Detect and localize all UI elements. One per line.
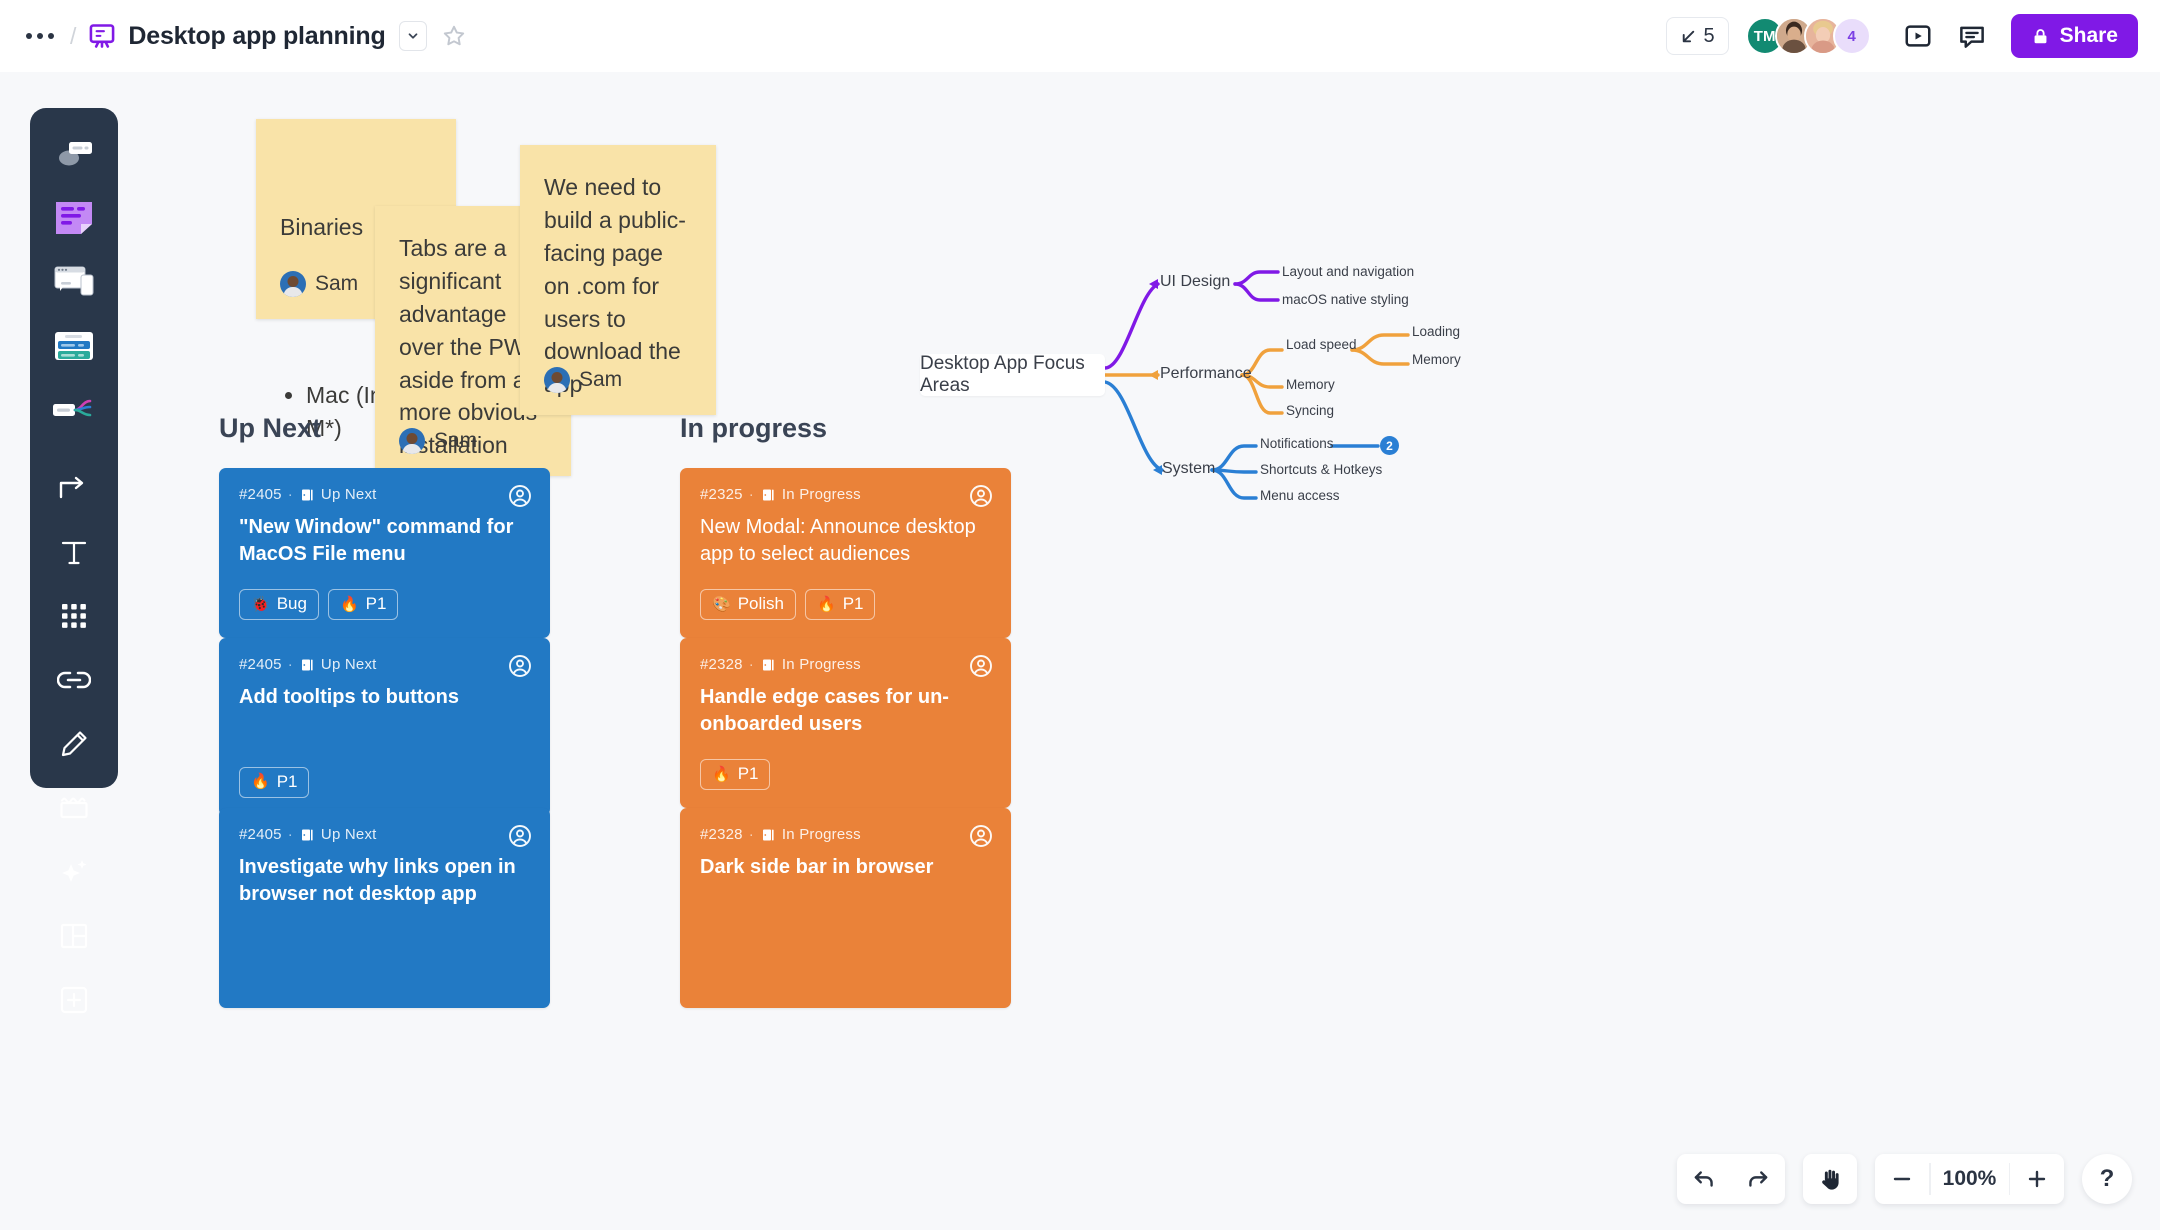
tag-priority[interactable]: 🔥 P1	[328, 589, 398, 620]
zoom-out-button[interactable]	[1875, 1154, 1929, 1204]
tag-bug[interactable]: 🐞 Bug	[239, 589, 319, 620]
tag-label: Polish	[738, 594, 784, 614]
card-status: Up Next	[321, 826, 377, 843]
mindmap-node-label: Performance	[1160, 365, 1252, 382]
sticky-author-name: Sam	[579, 365, 622, 395]
user-circle-icon[interactable]	[508, 824, 532, 848]
hand-pan-icon[interactable]	[1803, 1154, 1857, 1204]
plus-box-icon	[59, 985, 89, 1020]
chevron-down-icon[interactable]	[399, 21, 427, 51]
avatar	[399, 428, 425, 454]
share-button[interactable]: Share	[2011, 14, 2138, 58]
mindmap-leaf-menu-access[interactable]: Menu access	[1260, 488, 1340, 503]
mindmap-leaf-label: Notifications	[1260, 436, 1334, 451]
status-square-icon	[299, 487, 315, 503]
sticky-author-name: Sam	[434, 426, 477, 456]
sticky-author: Sam	[399, 426, 477, 456]
sticky-author: Sam	[280, 269, 358, 299]
mindmap-leaf-macos-styling[interactable]: macOS native styling	[1282, 292, 1409, 307]
more-horizontal-icon[interactable]	[22, 21, 58, 51]
tool-text[interactable]	[42, 522, 106, 586]
flame-icon: 🔥	[340, 597, 359, 612]
breadcrumb-separator: /	[70, 23, 76, 50]
avatar	[544, 367, 570, 393]
star-icon[interactable]	[441, 23, 467, 49]
link-icon	[57, 669, 91, 696]
card-status: Up Next	[321, 656, 377, 673]
tool-connector[interactable]	[42, 458, 106, 522]
tag-label: Bug	[277, 594, 307, 614]
status-square-icon	[760, 827, 776, 843]
card-tags: 🔥 P1	[700, 759, 991, 790]
column-title-up-next: Up Next	[219, 413, 321, 444]
status-square-icon	[299, 827, 315, 843]
mindmap-leaf-startup[interactable]: Memory	[1412, 352, 1461, 367]
card-id: #2405	[239, 826, 282, 843]
card-id: #2405	[239, 486, 282, 503]
mindmap-node-system[interactable]: System	[1162, 460, 1215, 478]
kanban-card-icon	[54, 329, 94, 368]
user-circle-icon[interactable]	[508, 654, 532, 678]
undo-arrow-icon[interactable]	[1677, 1154, 1731, 1204]
card-id: #2328	[700, 656, 743, 673]
card-status: In Progress	[782, 826, 861, 843]
text-t-icon	[59, 537, 89, 572]
card-meta: #2405 · Up Next	[239, 826, 530, 843]
left-toolbar	[30, 108, 118, 788]
tool-templates[interactable]	[42, 252, 106, 316]
card-tags: 🎨 Polish 🔥 P1	[700, 589, 991, 620]
tag-label: P1	[366, 594, 387, 614]
tag-priority[interactable]: 🔥 P1	[805, 589, 875, 620]
card-id: #2328	[700, 826, 743, 843]
tool-eraser[interactable]	[42, 778, 106, 842]
mindmap-node-performance[interactable]: Performance	[1160, 365, 1252, 383]
comment-icon[interactable]	[1951, 15, 1993, 57]
cursor-count-badge[interactable]: 5	[1666, 17, 1729, 55]
tool-kanban[interactable]	[42, 316, 106, 380]
card-title: Investigate why links open in browser no…	[239, 854, 530, 907]
user-circle-icon[interactable]	[508, 484, 532, 508]
tag-polish[interactable]: 🎨 Polish	[700, 589, 796, 620]
mindmap-leaf-label: Load speed	[1286, 337, 1357, 352]
mindmap-icon	[52, 395, 96, 430]
board-canvas[interactable]: Binaries Mac (Intel, M*) Windows Linux? …	[0, 72, 2160, 1230]
sticky-note[interactable]: We need to build a public-facing page on…	[520, 145, 716, 415]
mindmap-leaf-label: Menu access	[1260, 488, 1340, 503]
bottom-controls: 100% ?	[1677, 1154, 2132, 1204]
card-meta-separator: ·	[749, 486, 754, 503]
mindmap[interactable]: Desktop App Focus Areas UI Design Perfor…	[900, 172, 2080, 552]
card-meta-separator: ·	[288, 826, 293, 843]
page-title: Desktop app planning	[128, 22, 385, 51]
card-title: Dark side bar in browser	[700, 854, 991, 881]
tool-ai[interactable]	[42, 842, 106, 906]
card-meta: #2328 · In Progress	[700, 656, 991, 673]
mindmap-root-node[interactable]: Desktop App Focus Areas	[920, 354, 1105, 396]
card-title: "New Window" command for MacOS File menu	[239, 514, 530, 567]
shapes-select-icon	[53, 137, 95, 176]
flame-icon: 🔥	[712, 767, 731, 782]
mindmap-leaf-label: Syncing	[1286, 403, 1334, 418]
status-square-icon	[299, 657, 315, 673]
sticky-note-icon	[55, 201, 93, 240]
card-meta-separator: ·	[288, 656, 293, 673]
cursor-arrow-icon	[1680, 28, 1697, 45]
tool-pen[interactable]	[42, 714, 106, 778]
mindmap-leaf-label: Loading	[1412, 324, 1460, 339]
card-tags: 🔥 P1	[239, 767, 530, 798]
card-meta: #2405 · Up Next	[239, 486, 530, 503]
card-meta-separator: ·	[749, 826, 754, 843]
user-circle-icon[interactable]	[969, 824, 993, 848]
mindmap-leaf-label: macOS native styling	[1282, 292, 1409, 307]
mindmap-leaf-layout-navigation[interactable]: Layout and navigation	[1282, 264, 1414, 279]
tool-sticky-note[interactable]	[42, 188, 106, 252]
tool-select-shapes[interactable]	[42, 124, 106, 188]
mindmap-leaf-label: Memory	[1286, 377, 1335, 392]
mindmap-node-label: UI Design	[1160, 273, 1230, 290]
tag-priority[interactable]: 🔥 P1	[700, 759, 770, 790]
card-meta-separator: ·	[749, 656, 754, 673]
card-id: #2405	[239, 656, 282, 673]
card-tags: 🐞 Bug 🔥 P1	[239, 589, 530, 620]
zoom-level[interactable]: 100%	[1931, 1154, 2009, 1204]
tag-priority[interactable]: 🔥 P1	[239, 767, 309, 798]
cursor-count-label: 5	[1704, 25, 1715, 48]
card-title: Handle edge cases for un-onboarded users	[700, 684, 991, 737]
lock-icon	[2031, 27, 2050, 46]
mindmap-leaf-label: Shortcuts & Hotkeys	[1260, 462, 1382, 477]
mindmap-leaf-shortcuts-hotkeys[interactable]: Shortcuts & Hotkeys	[1260, 462, 1382, 477]
task-card[interactable]: #2405 · Up Next Investigate why links op…	[219, 808, 550, 1008]
card-meta: #2405 · Up Next	[239, 656, 530, 673]
card-id: #2325	[700, 486, 743, 503]
task-card[interactable]: #2405 · Up Next Add tooltips to buttons …	[219, 638, 550, 816]
status-square-icon	[760, 487, 776, 503]
frame-layout-icon	[59, 921, 89, 956]
column-title-in-progress: In progress	[680, 413, 827, 444]
undo-redo-group	[1677, 1154, 1785, 1204]
bug-icon: 🐞	[251, 597, 270, 612]
card-status: In Progress	[782, 486, 861, 503]
share-label: Share	[2060, 24, 2118, 48]
zoom-in-button[interactable]	[2010, 1154, 2064, 1204]
card-title: Add tooltips to buttons	[239, 684, 530, 711]
board-icon	[88, 22, 116, 50]
top-bar: / Desktop app planning 5	[0, 0, 2160, 72]
task-card[interactable]: #2328 · In Progress Dark side bar in bro…	[680, 808, 1011, 1008]
browser-mobile-icon	[53, 265, 95, 304]
task-card[interactable]: #2328 · In Progress Handle edge cases fo…	[680, 638, 1011, 808]
mindmap-leaf-label: Layout and navigation	[1282, 264, 1414, 279]
tool-link[interactable]	[42, 650, 106, 714]
avatar-overflow-count: 4	[1847, 28, 1855, 45]
help-button[interactable]: ?	[2082, 1154, 2132, 1204]
card-status: In Progress	[782, 656, 861, 673]
palette-icon: 🎨	[712, 597, 731, 612]
status-square-icon	[760, 657, 776, 673]
zoom-controls: 100%	[1875, 1154, 2064, 1204]
arrow-connector-icon	[58, 473, 90, 508]
card-status: Up Next	[321, 486, 377, 503]
sticky-author: Sam	[544, 365, 622, 395]
tool-more[interactable]	[42, 970, 106, 1034]
mindmap-leaf-label: Memory	[1412, 352, 1461, 367]
tool-mindmap[interactable]	[42, 380, 106, 444]
mindmap-notification-badge[interactable]: 2	[1380, 436, 1399, 455]
card-meta: #2328 · In Progress	[700, 826, 991, 843]
user-circle-icon[interactable]	[969, 654, 993, 678]
flame-icon: 🔥	[251, 774, 270, 789]
avatar-overflow[interactable]: 4	[1833, 17, 1871, 55]
eraser-icon	[58, 795, 90, 826]
tag-label: P1	[277, 772, 298, 792]
avatar-stack[interactable]: TM 4	[1746, 17, 1871, 55]
hand-tool-group	[1803, 1154, 1857, 1204]
mindmap-node-ui-design[interactable]: UI Design	[1160, 273, 1230, 291]
mindmap-leaf-loading[interactable]: Loading	[1412, 324, 1460, 339]
mindmap-node-label: System	[1162, 460, 1215, 477]
mindmap-leaf-memory[interactable]: Memory	[1286, 377, 1335, 392]
pencil-icon	[59, 729, 89, 764]
redo-arrow-icon[interactable]	[1731, 1154, 1785, 1204]
avatar	[280, 271, 306, 297]
mindmap-leaf-load-speed[interactable]: Load speed	[1286, 337, 1357, 352]
play-presentation-icon[interactable]	[1897, 15, 1939, 57]
card-meta-separator: ·	[288, 486, 293, 503]
avatar-initials: TM	[1754, 28, 1776, 45]
flame-icon: 🔥	[817, 597, 836, 612]
sparkles-icon	[58, 856, 90, 893]
mindmap-root-label: Desktop App Focus Areas	[920, 353, 1105, 397]
sticky-author-name: Sam	[315, 269, 358, 299]
tool-apps[interactable]	[42, 586, 106, 650]
tag-label: P1	[738, 764, 759, 784]
badge-count: 2	[1386, 439, 1393, 453]
task-card[interactable]: #2405 · Up Next "New Window" command for…	[219, 468, 550, 638]
tool-frame[interactable]	[42, 906, 106, 970]
mindmap-leaf-syncing[interactable]: Syncing	[1286, 403, 1334, 418]
grid-dots-icon	[59, 601, 89, 636]
tag-label: P1	[843, 594, 864, 614]
mindmap-leaf-notifications[interactable]: Notifications	[1260, 436, 1334, 451]
